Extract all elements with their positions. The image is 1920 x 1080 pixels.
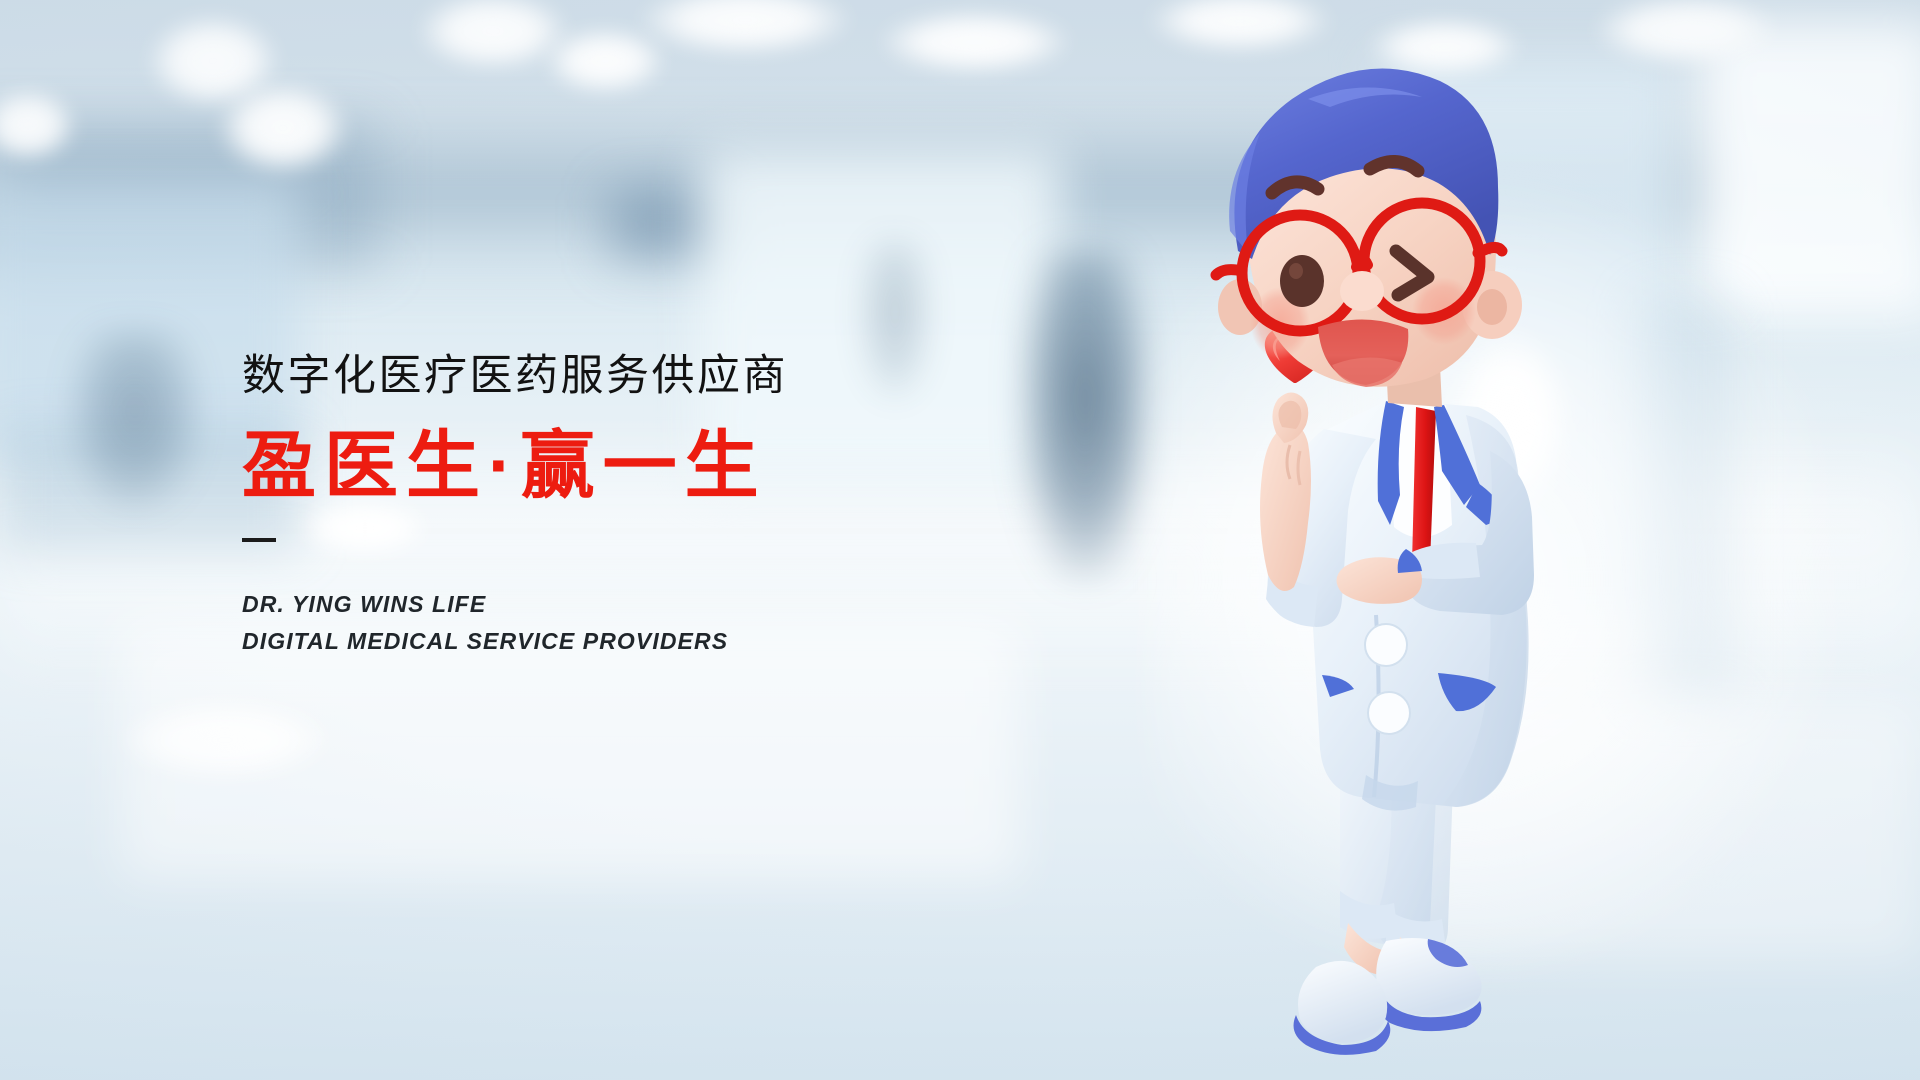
- banner-subtitle-line-1: DR. YING WINS LIFE: [242, 586, 1002, 623]
- open-eye-icon: [1280, 255, 1324, 307]
- hero-banner: 数字化医疗医药服务供应商 盈医生·赢一生 DR. YING WINS LIFE …: [0, 0, 1920, 1080]
- banner-divider-rule: [242, 538, 276, 542]
- banner-kicker: 数字化医疗医药服务供应商: [242, 352, 1002, 400]
- banner-subtitle-line-2: DIGITAL MEDICAL SERVICE PROVIDERS: [242, 623, 1002, 660]
- cartoon-doctor-mascot-icon: [1190, 55, 1610, 1065]
- mascot-head: [1216, 69, 1522, 407]
- banner-headline: 盈医生·赢一生: [242, 426, 1002, 506]
- banner-copy-block: 数字化医疗医药服务供应商 盈医生·赢一生 DR. YING WINS LIFE …: [242, 352, 1002, 661]
- mascot-shoes: [1294, 938, 1482, 1055]
